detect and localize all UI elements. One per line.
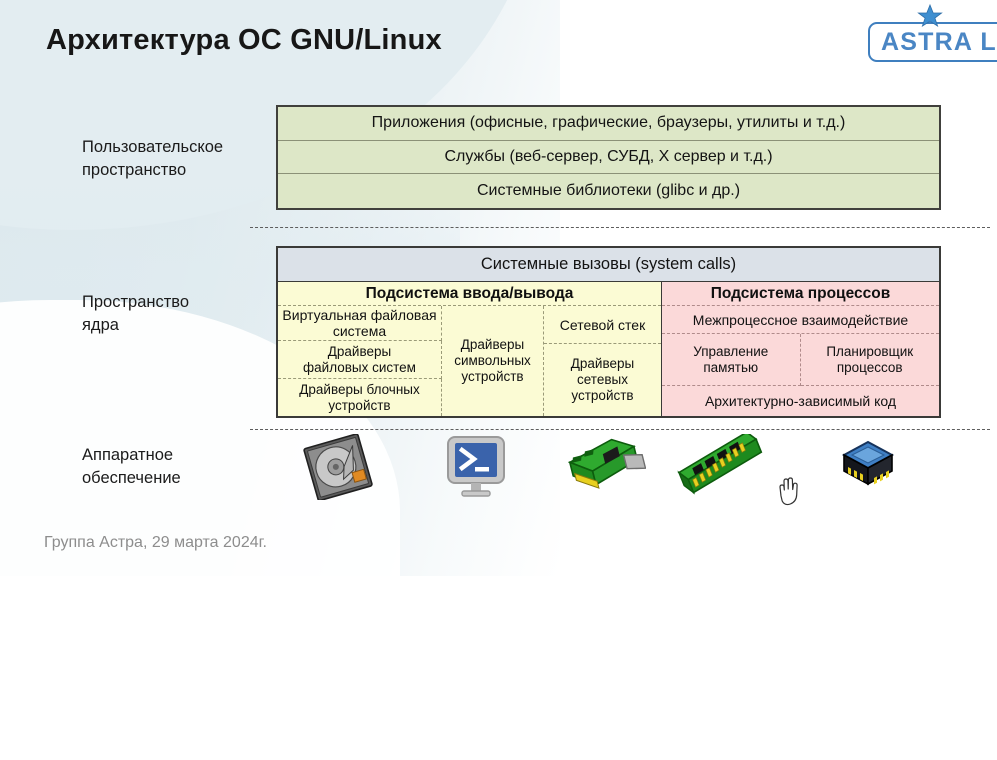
label-kernel-space-line1: Пространство [82, 291, 272, 314]
cell-process-scheduler-line2: процессов [826, 360, 913, 376]
label-hardware-line2: обеспечение [82, 467, 272, 490]
cell-ipc: Межпроцессное взаимодействие [662, 306, 939, 334]
user-space-row-applications: Приложения (офисные, графические, браузе… [278, 107, 939, 141]
hand-cursor [773, 474, 799, 506]
user-space-row-services: Службы (веб-сервер, СУБД, X сервер и т.д… [278, 141, 939, 175]
user-space-stack: Приложения (офисные, графические, браузе… [276, 105, 941, 210]
hard-disk-icon[interactable] [300, 434, 378, 500]
process-subsystem: Подсистема процессов Межпроцессное взаим… [662, 282, 939, 416]
io-subsystem: Подсистема ввода/вывода Виртуальная файл… [278, 282, 662, 416]
cell-arch-dependent-code: Архитектурно-зависимый код [662, 386, 939, 416]
label-hardware-line1: Аппаратное [82, 444, 272, 467]
label-kernel-space-line2: ядра [82, 314, 272, 337]
network-card-icon[interactable] [564, 434, 646, 500]
cell-filesystem-drivers-line2: файловых систем [303, 360, 416, 376]
cell-char-device-drivers-line3: устройств [454, 369, 531, 385]
cell-process-scheduler: Планировщик процессов [801, 334, 940, 386]
cell-block-device-drivers-line2: устройств [299, 398, 420, 414]
divider-kernel-hardware [250, 429, 990, 430]
io-subsystem-grid: Виртуальная файловая система Драйверы фа… [278, 306, 661, 416]
cell-network-device-drivers: Драйверы сетевых устройств [544, 344, 661, 416]
kernel-columns: Подсистема ввода/вывода Виртуальная файл… [278, 282, 939, 416]
label-user-space: Пользовательское пространство [82, 136, 272, 182]
cell-block-device-drivers-line1: Драйверы блочных [299, 382, 420, 398]
cell-memory-management-line2: памятью [693, 360, 768, 376]
memory-module-icon[interactable] [674, 434, 770, 500]
io-left-group: Виртуальная файловая система Драйверы фа… [278, 306, 442, 416]
io-right-group: Сетевой стек Драйверы сетевых устройств [544, 306, 661, 416]
label-user-space-line2: пространство [82, 159, 272, 182]
cell-memory-management-line1: Управление [693, 344, 768, 360]
footer-note: Группа Астра, 29 марта 2024г. [44, 534, 267, 552]
cell-network-stack: Сетевой стек [544, 306, 661, 344]
cell-network-device-drivers-line2: сетевых [571, 372, 634, 388]
user-space-row-libraries: Системные библиотеки (glibc и др.) [278, 174, 939, 208]
cell-process-scheduler-line1: Планировщик [826, 344, 913, 360]
cell-block-device-drivers: Драйверы блочных устройств [278, 379, 442, 416]
system-calls-band: Системные вызовы (system calls) [278, 248, 939, 282]
process-subsystem-title: Подсистема процессов [662, 282, 939, 306]
cpu-chip-icon[interactable] [836, 434, 900, 500]
kernel-space-box: Системные вызовы (system calls) Подсисте… [276, 246, 941, 418]
cell-virtual-file-system: Виртуальная файловая система [278, 306, 442, 341]
hardware-icon-strip [276, 434, 941, 506]
label-hardware: Аппаратное обеспечение [82, 444, 272, 490]
cell-network-device-drivers-line3: устройств [571, 388, 634, 404]
cell-char-device-drivers-line1: Драйверы [454, 337, 531, 353]
cell-char-device-drivers: Драйверы символьных устройств [442, 306, 544, 416]
cell-memory-management: Управление памятью [662, 334, 801, 386]
star-icon [916, 3, 944, 31]
cell-network-device-drivers-line1: Драйверы [571, 356, 634, 372]
cell-filesystem-drivers: Драйверы файловых систем [278, 341, 442, 379]
cell-char-device-drivers-line2: символьных [454, 353, 531, 369]
divider-user-kernel [250, 227, 990, 228]
page-title: Архитектура ОС GNU/Linux [46, 24, 442, 57]
label-kernel-space: Пространство ядра [82, 291, 272, 337]
io-middle-group: Драйверы символьных устройств [442, 306, 544, 416]
process-middle-row: Управление памятью Планировщик процессов [662, 334, 939, 386]
terminal-monitor-icon[interactable] [444, 434, 508, 500]
io-subsystem-title: Подсистема ввода/вывода [278, 282, 661, 306]
label-user-space-line1: Пользовательское [82, 136, 272, 159]
brand-logo-text: ASTRA LIN [881, 28, 997, 57]
cell-filesystem-drivers-line1: Драйверы [303, 344, 416, 360]
